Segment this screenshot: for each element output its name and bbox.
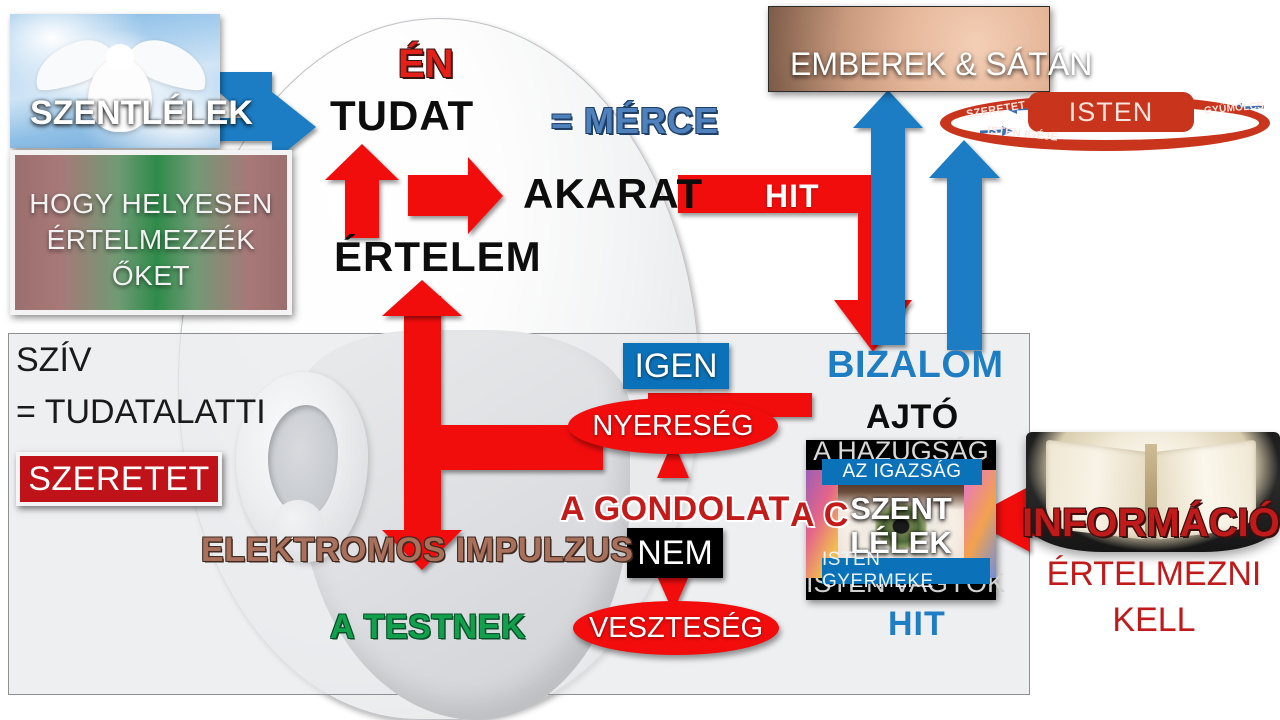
child-of-god-bar: ISTEN GYERMEKE [822,558,990,584]
yes-chip: IGEN [623,343,729,389]
love-badge-label: SZERETET [16,462,222,496]
ego-label: ÉN [398,44,454,84]
truth-label: AZ IGAZSÁG [842,461,961,483]
door-label: AJTÓ [866,400,959,434]
faith-to-god-arrow [929,140,1000,350]
god-label: ISTEN [1069,97,1154,128]
trust-label: BIZALOM [827,346,1004,384]
will-label: AKARAT [523,173,703,215]
people-satan-label: EMBEREK & SÁTÁN [790,48,1092,80]
information-subtitle: ÉRTELMEZNI KELL [1040,552,1268,644]
truth-bar: AZ IGAZSÁG [822,459,982,485]
yes-label: IGEN [634,347,717,386]
holy-spirit-label: SZENTLÉLEK [30,96,253,130]
reason-label: ÉRTELEM [334,236,542,278]
loss-label: VESZTESÉG [589,612,763,645]
subconscious-label: = TUDATALATTI [16,395,266,429]
diagram-canvas: SZENTLÉLEK HOGY HELYESEN ÉRTELMEZZÉK ŐKE… [0,0,1280,720]
child-of-god-label: ISTEN GYERMEKE [822,549,990,593]
loss-ellipse: VESZTESÉG [573,601,779,655]
god-pill: ISTEN [1028,92,1194,132]
electric-impulse-label: ELEKTROMOS IMPULZUS [201,533,634,567]
information-title: INFORMÁCIÓ [1022,503,1280,543]
faith-bottom-label: HIT [888,607,946,641]
standard-label: = MÉRCE [551,103,719,139]
dove-head-shape [106,44,134,70]
consciousness-label: TUDAT [330,95,474,137]
faith-top-label: HIT [765,180,820,212]
to-the-body-label: A TESTNEK [330,610,526,644]
no-label: NEM [637,534,713,573]
no-chip: NEM [627,528,723,578]
heart-label: SZÍV [16,343,92,377]
gain-ellipse: NYERESÉG [568,398,778,454]
gain-label: NYERESÉG [592,410,753,443]
thought-label: A GONDOLAT [560,492,790,526]
interpret-label: HOGY HELYESEN ÉRTELMEZZÉK ŐKET [16,186,286,293]
